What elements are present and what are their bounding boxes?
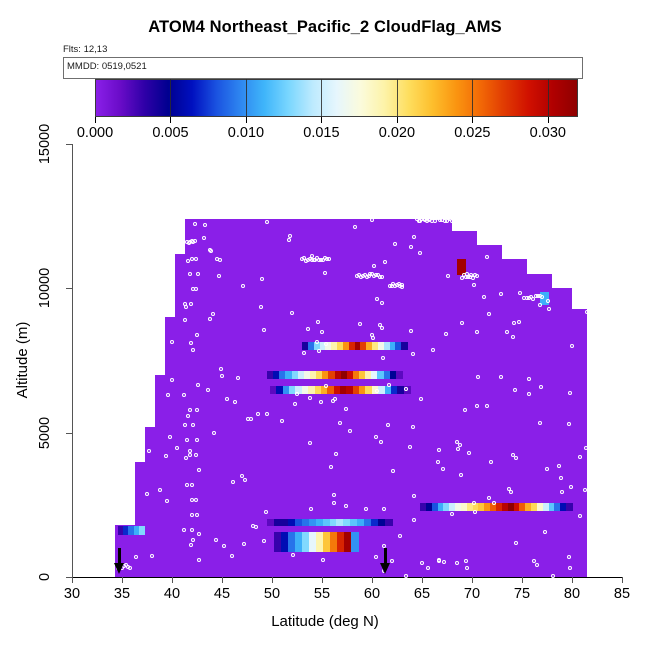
flight-start-arrow-head [114, 563, 124, 574]
x-axis-tick-label: 85 [614, 586, 630, 602]
profile-marker [505, 330, 509, 334]
colorbar-tick-label: 0.005 [152, 125, 188, 141]
profile-marker [262, 539, 266, 543]
y-axis-tick-label: 0 [37, 573, 53, 581]
profile-marker [212, 431, 216, 435]
colorbar-tick [246, 117, 247, 123]
profile-marker [190, 498, 194, 502]
x-axis-tick-label: 80 [564, 586, 580, 602]
profile-marker [518, 291, 522, 295]
colorbar-tick-label: 0.000 [77, 125, 113, 141]
profile-marker [383, 260, 387, 264]
flight-start-arrow [118, 548, 121, 564]
x-axis-tick [572, 577, 573, 583]
x-axis-tick [172, 577, 173, 583]
x-axis-tick [522, 577, 523, 583]
profile-marker [436, 460, 440, 464]
profile-marker [514, 541, 518, 545]
cloud-cell [396, 371, 403, 380]
cloud-cell [401, 342, 407, 350]
profile-marker [324, 384, 328, 388]
profile-marker [512, 321, 516, 325]
profile-marker [164, 454, 168, 458]
profile-marker [196, 383, 200, 387]
plot-root: ATOM4 Northeast_Pacific_2 CloudFlag_AMS … [0, 0, 650, 650]
colorbar-tick-label: 0.015 [303, 125, 339, 141]
profile-marker [309, 507, 313, 511]
x-axis-tick-label: 70 [464, 586, 480, 602]
profile-marker [332, 501, 336, 505]
y-axis-tick [66, 144, 72, 145]
x-axis-tick [122, 577, 123, 583]
profile-marker [485, 404, 489, 408]
profile-marker [485, 255, 489, 259]
flight-transit-arrow [384, 548, 387, 564]
profile-marker [442, 560, 446, 564]
profile-marker [393, 242, 397, 246]
x-axis-tick-label: 40 [164, 586, 180, 602]
profile-marker [539, 385, 543, 389]
data-canvas [72, 144, 622, 577]
profile-marker [321, 558, 325, 562]
profile-marker [315, 340, 319, 344]
y-axis-tick-label: 15000 [37, 124, 53, 164]
colorbar-tick [472, 117, 473, 123]
profile-marker [437, 558, 441, 562]
profile-marker [325, 257, 329, 261]
profile-marker [170, 340, 174, 344]
curtain-segment [552, 288, 572, 577]
colorbar-tick [397, 117, 398, 123]
profile-marker [188, 453, 192, 457]
y-axis-title: Altitude (m) [14, 322, 31, 399]
profile-marker [409, 329, 413, 333]
profile-marker [308, 396, 312, 400]
y-axis-tick [66, 288, 72, 289]
colorbar-tick-label: 0.010 [228, 125, 264, 141]
profile-marker [400, 285, 404, 289]
profile-marker [260, 277, 264, 281]
x-axis-tick [322, 577, 323, 583]
profile-marker [535, 563, 539, 567]
profile-marker [458, 443, 462, 447]
colorbar-separator [170, 79, 171, 117]
cloud-cell [566, 503, 572, 511]
y-axis-tick [66, 577, 72, 578]
profile-marker [513, 388, 517, 392]
profile-marker [195, 438, 199, 442]
profile-marker [230, 554, 234, 558]
profile-marker [380, 275, 384, 279]
x-axis-tick [272, 577, 273, 583]
y-axis-tick-label: 5000 [37, 417, 53, 449]
profile-marker [319, 400, 323, 404]
profile-marker [475, 404, 479, 408]
profile-marker [183, 423, 187, 427]
profile-marker [287, 238, 291, 242]
colorbar-tick-label: 0.030 [530, 125, 566, 141]
colorbar-separator [246, 79, 247, 117]
profile-marker [398, 534, 402, 538]
mmdd-label: MMDD: 0519,0521 [67, 61, 147, 72]
x-axis-title: Latitude (deg N) [0, 613, 650, 630]
colorbar-tick [170, 117, 171, 123]
profile-marker [186, 414, 190, 418]
profile-marker [175, 446, 179, 450]
profile-marker [182, 528, 186, 532]
curtain-segment [135, 462, 145, 577]
profile-marker [404, 387, 408, 391]
x-axis-tick [372, 577, 373, 583]
profile-marker [463, 408, 467, 412]
profile-marker [411, 425, 415, 429]
profile-marker [206, 388, 210, 392]
profile-marker [372, 264, 376, 268]
profile-marker [487, 496, 491, 500]
profile-marker [583, 488, 587, 492]
plot-area [72, 144, 622, 577]
colorbar-separator [548, 79, 549, 117]
profile-marker [240, 474, 244, 478]
x-axis-tick-label: 45 [214, 586, 230, 602]
profile-marker [182, 393, 186, 397]
profile-marker [290, 311, 294, 315]
profile-marker [584, 446, 588, 450]
profile-marker [387, 383, 391, 387]
flights-label: Flts: 12,13 [63, 44, 107, 55]
colorbar-gradient [95, 79, 578, 117]
profile-marker [374, 435, 378, 439]
profile-marker [194, 453, 198, 457]
profile-marker [489, 460, 493, 464]
profile-marker [197, 532, 201, 536]
cloud-cell [385, 519, 393, 526]
profile-marker [412, 494, 416, 498]
colorbar-tick [95, 117, 96, 123]
profile-marker [450, 512, 454, 516]
profile-marker [259, 305, 263, 309]
x-axis-tick [72, 577, 73, 583]
profile-marker [569, 485, 573, 489]
profile-marker [195, 333, 199, 337]
profile-marker [191, 348, 195, 352]
x-axis-tick [472, 577, 473, 583]
profile-marker [208, 317, 212, 321]
profile-marker [323, 271, 327, 275]
profile-marker [211, 312, 215, 316]
profile-marker [585, 310, 589, 314]
profile-marker [243, 478, 247, 482]
x-axis-tick [422, 577, 423, 583]
profile-marker [492, 501, 496, 505]
profile-marker [464, 559, 468, 563]
profile-marker [134, 555, 138, 559]
profile-marker [472, 283, 476, 287]
profile-marker [475, 274, 479, 278]
profile-marker [334, 452, 338, 456]
y-axis-tick [66, 433, 72, 434]
profile-marker [302, 351, 306, 355]
colorbar-separator [472, 79, 473, 117]
x-axis-tick-label: 75 [514, 586, 530, 602]
y-axis-tick-label: 10000 [37, 268, 53, 308]
profile-marker [189, 543, 193, 547]
profile-marker [295, 392, 299, 396]
colorbar-tick [321, 117, 322, 123]
x-axis-tick-label: 50 [264, 586, 280, 602]
profile-marker [180, 218, 184, 222]
profile-marker [150, 554, 154, 558]
flight-transit-arrow-head [380, 563, 390, 574]
profile-marker [499, 292, 503, 296]
profile-marker [203, 223, 207, 227]
x-axis-tick [222, 577, 223, 583]
x-axis-tick-label: 35 [114, 586, 130, 602]
profile-marker [291, 553, 295, 557]
colorbar-tick-label: 0.025 [454, 125, 490, 141]
x-axis-tick-label: 30 [64, 586, 80, 602]
curtain-segment [502, 259, 527, 577]
profile-marker [288, 234, 292, 238]
profile-marker [190, 513, 194, 517]
x-axis-tick [622, 577, 623, 583]
profile-marker [280, 419, 284, 423]
curtain-segment [572, 309, 587, 577]
profile-marker [418, 251, 422, 255]
profile-marker [338, 421, 342, 425]
profile-marker [467, 451, 471, 455]
profile-marker [185, 438, 189, 442]
curtain-segment [527, 274, 552, 577]
profile-marker [567, 555, 571, 559]
profile-marker [450, 219, 454, 223]
cloud-cell [139, 526, 145, 535]
profile-marker [220, 374, 224, 378]
curtain-segment [165, 317, 175, 577]
profile-marker [487, 312, 491, 316]
cloud-cell [351, 532, 359, 552]
profile-marker [183, 318, 187, 322]
profile-marker [195, 408, 199, 412]
profile-marker [538, 303, 542, 307]
colorbar: 0.0000.0050.0100.0150.0200.0250.030 [95, 79, 578, 117]
profile-marker [190, 483, 194, 487]
colorbar-tick [548, 117, 549, 123]
profile-marker [147, 449, 151, 453]
colorbar-separator [321, 79, 322, 117]
profile-marker [195, 513, 199, 517]
colorbar-tick-label: 0.020 [379, 125, 415, 141]
profile-marker [185, 483, 189, 487]
profile-marker [249, 417, 253, 421]
x-axis-line [72, 577, 622, 578]
profile-marker [476, 375, 480, 379]
profile-marker [381, 356, 385, 360]
page-title: ATOM4 Northeast_Pacific_2 CloudFlag_AMS [0, 18, 650, 37]
profile-marker [209, 249, 213, 253]
profile-marker [408, 445, 412, 449]
x-axis-tick-label: 65 [414, 586, 430, 602]
profile-marker [378, 323, 382, 327]
profile-marker [431, 348, 435, 352]
colorbar-separator [397, 79, 398, 117]
curtain-segment [155, 375, 165, 577]
profile-marker [128, 566, 132, 570]
profile-marker [236, 376, 240, 380]
profile-marker [190, 528, 194, 532]
profile-marker [265, 220, 269, 224]
x-axis-tick-label: 55 [314, 586, 330, 602]
profile-marker [191, 423, 195, 427]
profile-marker [551, 574, 555, 578]
profile-marker [514, 456, 518, 460]
x-axis-tick-label: 60 [364, 586, 380, 602]
profile-marker [441, 467, 445, 471]
profile-marker [426, 566, 430, 570]
